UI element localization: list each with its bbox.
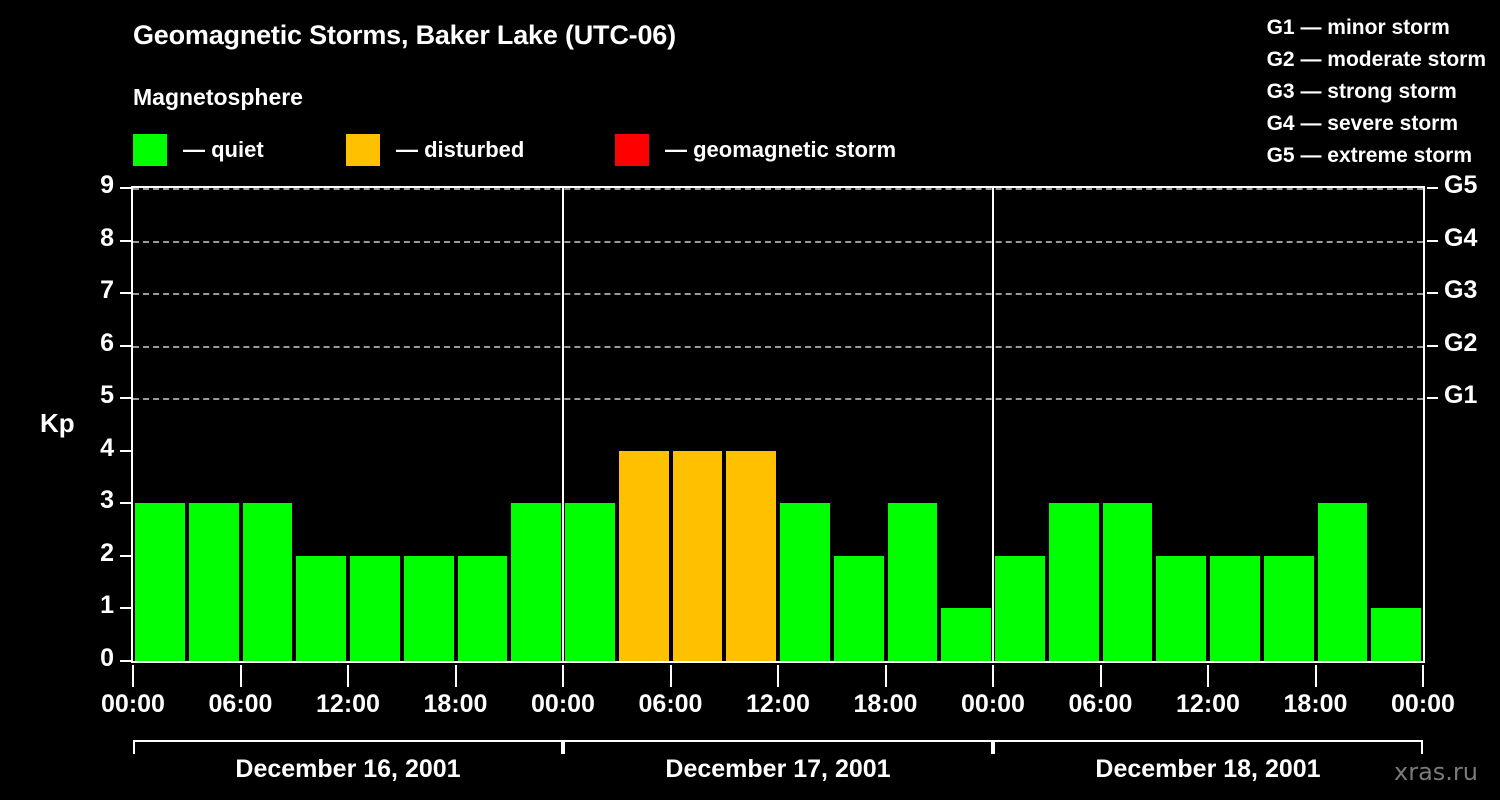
bar-19[interactable] bbox=[1156, 556, 1206, 661]
x-tick-9 bbox=[1100, 665, 1102, 687]
gridline-kp-5 bbox=[133, 398, 1423, 400]
chart-root: Geomagnetic Storms, Baker Lake (UTC-06) … bbox=[0, 0, 1500, 800]
bar-20[interactable] bbox=[1210, 556, 1260, 661]
y-tick-5 bbox=[120, 397, 131, 399]
y-tick-label-6: 6 bbox=[74, 329, 114, 358]
x-tick-label-0: 00:00 bbox=[73, 690, 193, 719]
y-tick-8 bbox=[120, 240, 131, 242]
x-tick-label-6: 12:00 bbox=[718, 690, 838, 719]
day-bracket-0 bbox=[133, 740, 563, 754]
x-tick-5 bbox=[670, 665, 672, 687]
g-legend-line-3: G3 — strong storm bbox=[1267, 76, 1486, 108]
gridline-kp-9 bbox=[133, 188, 1423, 190]
x-tick-11 bbox=[1315, 665, 1317, 687]
gridline-kp-7 bbox=[133, 293, 1423, 295]
g-axis-label-G1: G1 bbox=[1444, 381, 1500, 410]
x-tick-label-1: 06:00 bbox=[181, 690, 301, 719]
g-legend-line-1: G1 — minor storm bbox=[1267, 12, 1486, 44]
watermark: xras.ru bbox=[1394, 758, 1478, 786]
x-tick-label-3: 18:00 bbox=[396, 690, 516, 719]
g-axis-tick-G1 bbox=[1427, 397, 1438, 399]
bar-18[interactable] bbox=[1103, 503, 1153, 661]
y-tick-label-0: 0 bbox=[74, 644, 114, 673]
bar-2[interactable] bbox=[243, 503, 293, 661]
g-axis-tick-G3 bbox=[1427, 292, 1438, 294]
legend-label-1: — disturbed bbox=[396, 137, 524, 163]
day-separator-2 bbox=[992, 188, 994, 661]
legend-item-1: — disturbed bbox=[346, 133, 524, 167]
y-tick-9 bbox=[120, 187, 131, 189]
g-axis-tick-G5 bbox=[1427, 187, 1438, 189]
bar-8[interactable] bbox=[565, 503, 615, 661]
x-tick-label-2: 12:00 bbox=[288, 690, 408, 719]
bar-23[interactable] bbox=[1371, 608, 1421, 661]
x-tick-7 bbox=[885, 665, 887, 687]
legend-item-2: — geomagnetic storm bbox=[615, 133, 896, 167]
bar-9[interactable] bbox=[619, 451, 669, 661]
bar-0[interactable] bbox=[135, 503, 185, 661]
x-tick-label-11: 18:00 bbox=[1256, 690, 1376, 719]
x-tick-6 bbox=[777, 665, 779, 687]
subtitle-magnetosphere: Magnetosphere bbox=[133, 84, 303, 111]
g-legend-line-4: G4 — severe storm bbox=[1267, 108, 1486, 140]
g-legend-line-2: G2 — moderate storm bbox=[1267, 44, 1486, 76]
legend-item-0: — quiet bbox=[133, 133, 264, 167]
y-tick-0 bbox=[120, 660, 131, 662]
x-tick-2 bbox=[347, 665, 349, 687]
day-bracket-2 bbox=[993, 740, 1423, 754]
bar-4[interactable] bbox=[350, 556, 400, 661]
x-tick-10 bbox=[1207, 665, 1209, 687]
bar-11[interactable] bbox=[726, 451, 776, 661]
y-tick-label-3: 3 bbox=[74, 486, 114, 515]
g-axis-label-G5: G5 bbox=[1444, 171, 1500, 200]
g-legend-line-5: G5 — extreme storm bbox=[1267, 140, 1486, 172]
y-tick-label-9: 9 bbox=[74, 171, 114, 200]
bar-5[interactable] bbox=[404, 556, 454, 661]
day-label-2: December 18, 2001 bbox=[993, 755, 1423, 784]
bar-16[interactable] bbox=[995, 556, 1045, 661]
plot-inner bbox=[133, 188, 1423, 661]
x-tick-label-7: 18:00 bbox=[826, 690, 946, 719]
x-tick-4 bbox=[562, 665, 564, 687]
y-tick-4 bbox=[120, 450, 131, 452]
y-tick-1 bbox=[120, 607, 131, 609]
x-tick-label-9: 06:00 bbox=[1041, 690, 1161, 719]
bar-14[interactable] bbox=[888, 503, 938, 661]
day-label-1: December 17, 2001 bbox=[563, 755, 993, 784]
bar-22[interactable] bbox=[1318, 503, 1368, 661]
x-tick-12 bbox=[1422, 665, 1424, 687]
x-tick-label-10: 12:00 bbox=[1148, 690, 1268, 719]
bar-15[interactable] bbox=[941, 608, 991, 661]
y-tick-label-4: 4 bbox=[74, 434, 114, 463]
g-axis-tick-G2 bbox=[1427, 345, 1438, 347]
y-tick-label-2: 2 bbox=[74, 539, 114, 568]
y-tick-label-7: 7 bbox=[74, 276, 114, 305]
legend-label-0: — quiet bbox=[183, 137, 264, 163]
y-tick-7 bbox=[120, 292, 131, 294]
bar-21[interactable] bbox=[1264, 556, 1314, 661]
y-tick-label-1: 1 bbox=[74, 591, 114, 620]
y-tick-3 bbox=[120, 502, 131, 504]
x-tick-1 bbox=[240, 665, 242, 687]
y-axis-title: Kp bbox=[40, 408, 75, 439]
x-tick-label-5: 06:00 bbox=[611, 690, 731, 719]
g-axis-tick-G4 bbox=[1427, 240, 1438, 242]
legend-label-2: — geomagnetic storm bbox=[665, 137, 896, 163]
x-tick-label-4: 00:00 bbox=[503, 690, 623, 719]
day-separator-1 bbox=[562, 188, 564, 661]
y-tick-6 bbox=[120, 345, 131, 347]
quiet-swatch bbox=[133, 134, 167, 166]
bar-6[interactable] bbox=[458, 556, 508, 661]
y-tick-label-5: 5 bbox=[74, 381, 114, 410]
gridline-kp-6 bbox=[133, 346, 1423, 348]
x-tick-3 bbox=[455, 665, 457, 687]
bar-17[interactable] bbox=[1049, 503, 1099, 661]
page-title: Geomagnetic Storms, Baker Lake (UTC-06) bbox=[133, 20, 676, 51]
bar-1[interactable] bbox=[189, 503, 239, 661]
g-axis-label-G3: G3 bbox=[1444, 276, 1500, 305]
gridline-kp-8 bbox=[133, 241, 1423, 243]
disturbed-swatch bbox=[346, 134, 380, 166]
g-scale-legend: G1 — minor stormG2 — moderate stormG3 — … bbox=[1267, 12, 1486, 172]
bar-3[interactable] bbox=[296, 556, 346, 661]
bar-10[interactable] bbox=[673, 451, 723, 661]
bar-13[interactable] bbox=[834, 556, 884, 661]
y-tick-label-8: 8 bbox=[74, 224, 114, 253]
day-bracket-1 bbox=[563, 740, 993, 754]
x-tick-0 bbox=[132, 665, 134, 687]
g-axis-label-G4: G4 bbox=[1444, 224, 1500, 253]
plot-area bbox=[131, 186, 1425, 663]
bar-7[interactable] bbox=[511, 503, 561, 661]
day-label-0: December 16, 2001 bbox=[133, 755, 563, 784]
x-tick-8 bbox=[992, 665, 994, 687]
x-tick-label-12: 00:00 bbox=[1363, 690, 1483, 719]
y-tick-2 bbox=[120, 555, 131, 557]
bar-12[interactable] bbox=[780, 503, 830, 661]
x-tick-label-8: 00:00 bbox=[933, 690, 1053, 719]
storm-swatch bbox=[615, 134, 649, 166]
g-axis-label-G2: G2 bbox=[1444, 329, 1500, 358]
